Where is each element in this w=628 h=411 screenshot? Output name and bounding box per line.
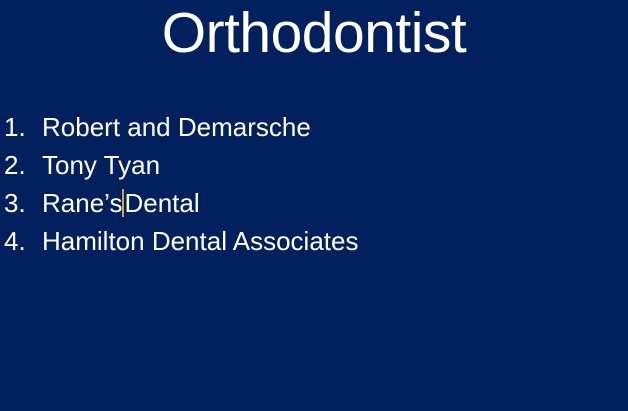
list-item[interactable]: 4. Hamilton Dental Associates — [0, 222, 628, 260]
list-item[interactable]: 1. Robert and Demarsche — [0, 108, 628, 146]
list-item-label: Hamilton Dental Associates — [42, 222, 358, 260]
numbered-list: 1. Robert and Demarsche 2. Tony Tyan 3. … — [0, 108, 628, 260]
list-item-text-after-caret: Dental — [124, 188, 199, 218]
list-item-number: 3. — [0, 184, 42, 222]
list-item-label: Rane’sDental — [42, 184, 200, 222]
list-item-number: 2. — [0, 146, 42, 184]
slide-body-placeholder[interactable]: 1. Robert and Demarsche 2. Tony Tyan 3. … — [0, 108, 628, 260]
list-item-editing[interactable]: 3. Rane’sDental — [0, 184, 628, 222]
list-item-label: Robert and Demarsche — [42, 108, 311, 146]
list-item[interactable]: 2. Tony Tyan — [0, 146, 628, 184]
list-item-text-before-caret: Rane’s — [42, 188, 122, 218]
list-item-number: 4. — [0, 222, 42, 260]
slide-title[interactable]: Orthodontist — [0, 2, 628, 65]
slide-canvas: Orthodontist 1. Robert and Demarsche 2. … — [0, 0, 628, 411]
list-item-label: Tony Tyan — [42, 146, 160, 184]
list-item-number: 1. — [0, 108, 42, 146]
